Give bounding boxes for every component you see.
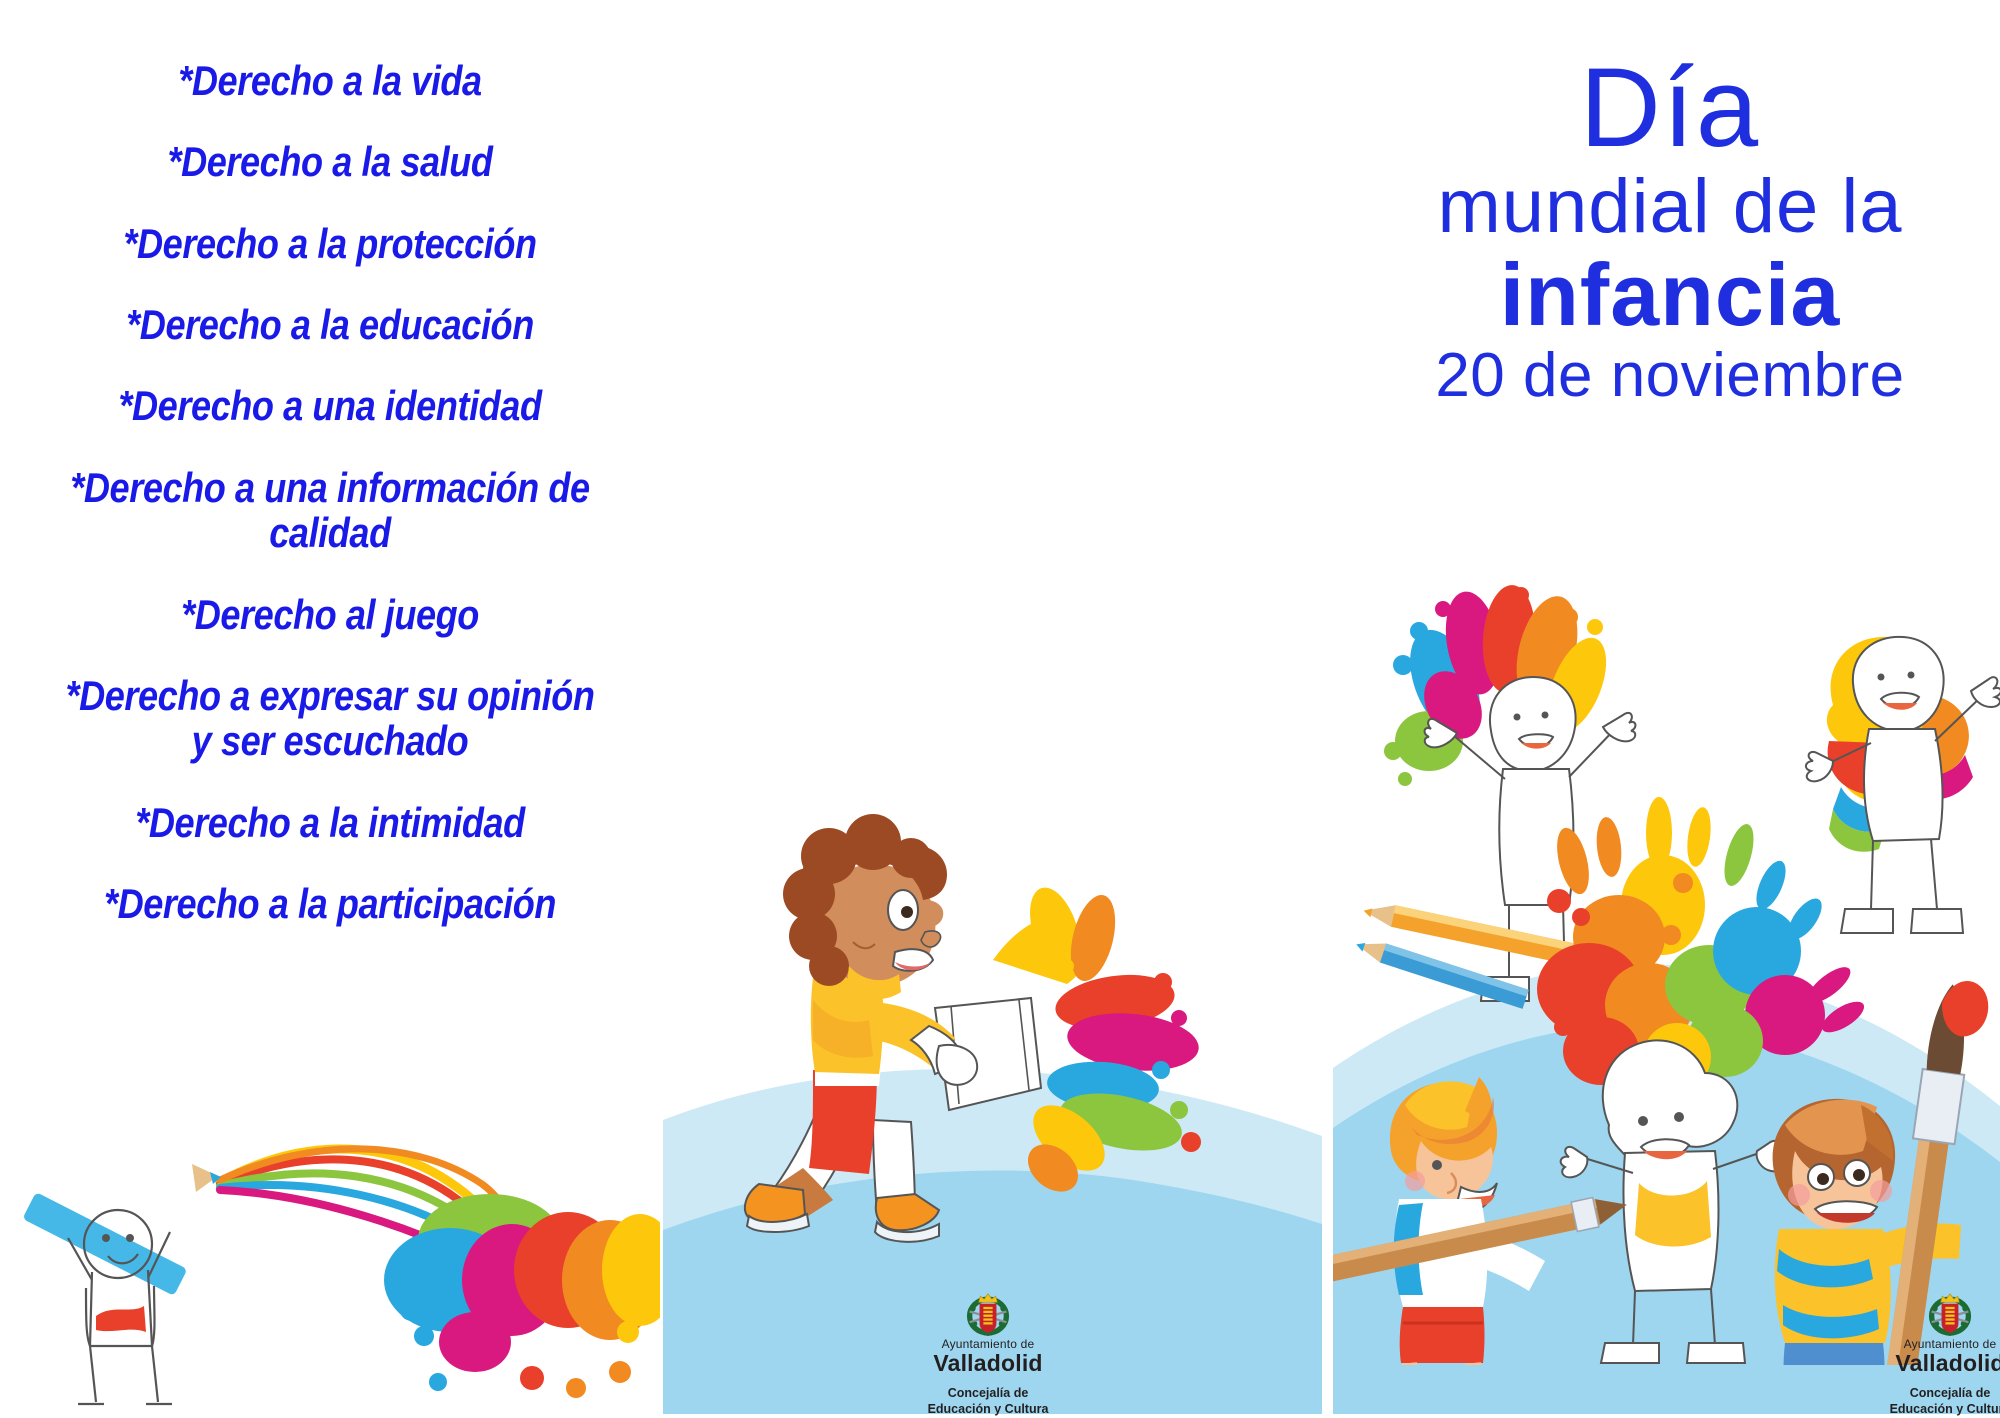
page-title: Día mundial de la infancia 20 de noviemb…	[1340, 52, 2000, 410]
walking-kid-svg	[663, 770, 1322, 1330]
title-line-date: 20 de noviembre	[1340, 342, 2000, 410]
kids-paint-illustration	[1333, 565, 2000, 1365]
pencil-kid-illustration	[20, 1120, 660, 1410]
logo-institution-name: Valladolid	[1855, 1351, 2000, 1375]
right-item: *Derecho a la intimidad	[63, 800, 596, 845]
right-item: *Derecho a la protección	[63, 221, 596, 266]
valladolid-coat-of-arms-icon	[965, 1290, 1011, 1336]
right-item: *Derecho a la vida	[63, 58, 596, 103]
kids-paint-svg	[1333, 565, 2000, 1365]
center-logo: Ayuntamiento de Valladolid Concejalía de…	[893, 1290, 1083, 1418]
logo-department-line1: Concejalía de	[1855, 1386, 2000, 1402]
logo-department-line2: Educación y Cultura	[893, 1402, 1083, 1418]
logo-institution-name: Valladolid	[893, 1351, 1083, 1375]
title-line-mundial: mundial de la	[1340, 164, 2000, 249]
right-item: *Derecho a una información de calidad	[63, 465, 596, 556]
walking-kid-illustration	[663, 770, 1322, 1330]
right-item: *Derecho a expresar su opinión y ser esc…	[63, 673, 596, 764]
logo-department-line1: Concejalía de	[893, 1386, 1083, 1402]
right-item: *Derecho a una identidad	[63, 383, 596, 428]
right-item: *Derecho a la salud	[63, 139, 596, 184]
right-item: *Derecho al juego	[63, 592, 596, 637]
right-item: *Derecho a la educación	[63, 302, 596, 347]
logo-department-line2: Educación y Cultura	[1855, 1402, 2000, 1418]
right-item: *Derecho a la participación	[63, 881, 596, 926]
rights-list: *Derecho a la vida *Derecho a la salud *…	[0, 58, 660, 962]
pencil-kid-svg	[20, 1120, 660, 1410]
valladolid-coat-of-arms-icon	[1927, 1290, 1973, 1336]
title-line-dia: Día	[1340, 52, 2000, 164]
title-line-infancia: infancia	[1340, 249, 2000, 341]
right-logo: Ayuntamiento de Valladolid Concejalía de…	[1855, 1290, 2000, 1418]
